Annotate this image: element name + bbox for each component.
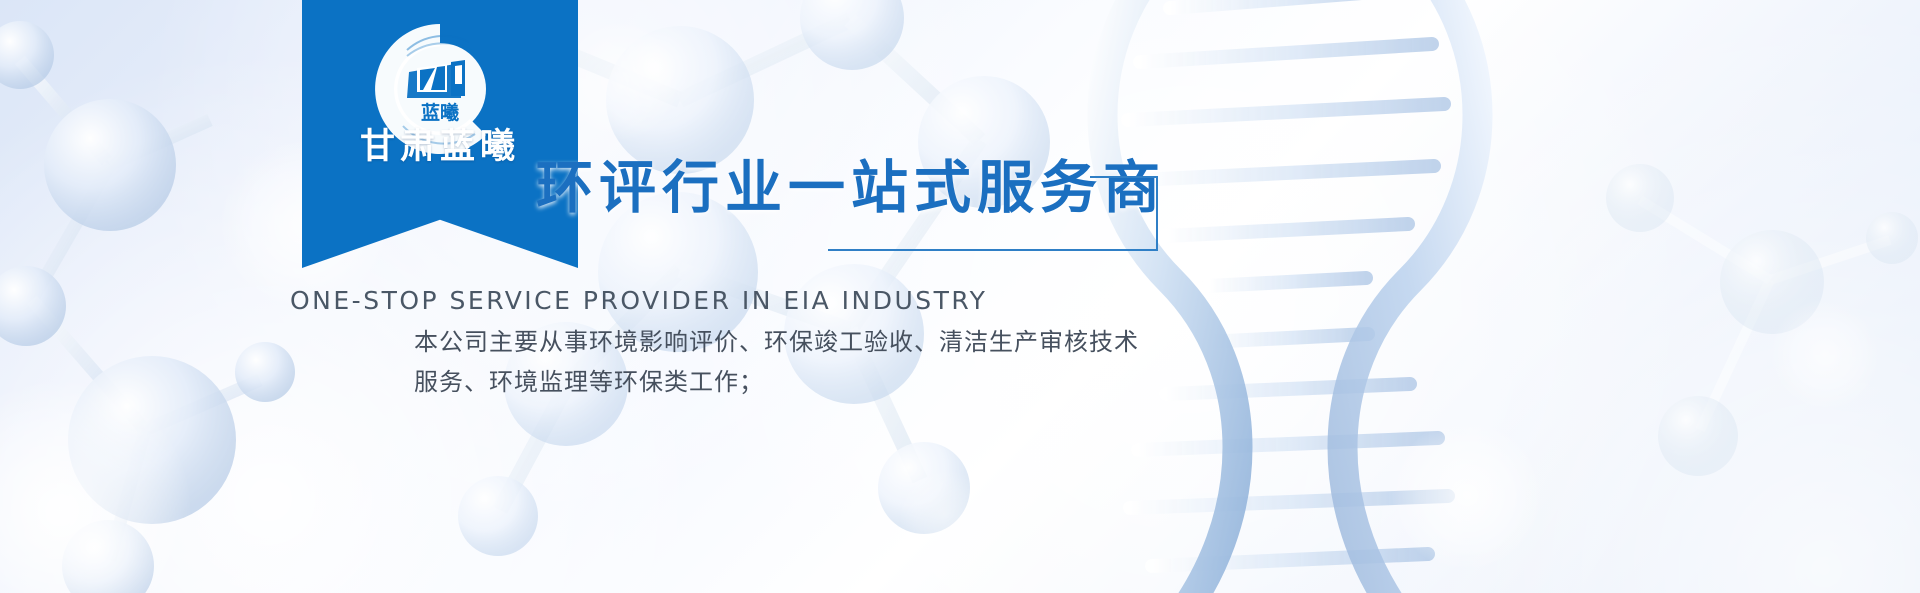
body-description: 本公司主要从事环境影响评价、环保竣工验收、清洁生产审核技术 服务、环境监理等环保… — [414, 322, 1194, 402]
bokeh-light-icon — [1392, 420, 1542, 570]
connector-horizontal-rule — [828, 249, 1158, 251]
brand-ribbon: 蓝曦 甘肃蓝曦 — [302, 0, 578, 268]
dna-helix-icon — [1020, 0, 1580, 593]
hero-banner: 蓝曦 甘肃蓝曦 环评行业一站式服务商 ONE-STOP SERVICE PROV… — [0, 0, 1920, 593]
page-subtitle: ONE-STOP SERVICE PROVIDER IN EIA INDUSTR… — [290, 286, 987, 315]
body-line: 本公司主要从事环境影响评价、环保竣工验收、清洁生产审核技术 — [414, 322, 1194, 362]
body-line: 服务、环境监理等环保类工作； — [414, 362, 1194, 402]
page-title: 环评行业一站式服务商 — [536, 142, 1166, 224]
molecule-cluster-right-icon — [1560, 120, 1920, 593]
bokeh-light-icon — [560, 20, 680, 140]
bokeh-light-icon — [900, 470, 990, 560]
connector-top-rule — [1090, 176, 1158, 178]
connector-vertical-rule — [1156, 176, 1158, 251]
bokeh-light-icon — [0, 380, 190, 593]
bokeh-light-icon — [1770, 300, 1880, 410]
